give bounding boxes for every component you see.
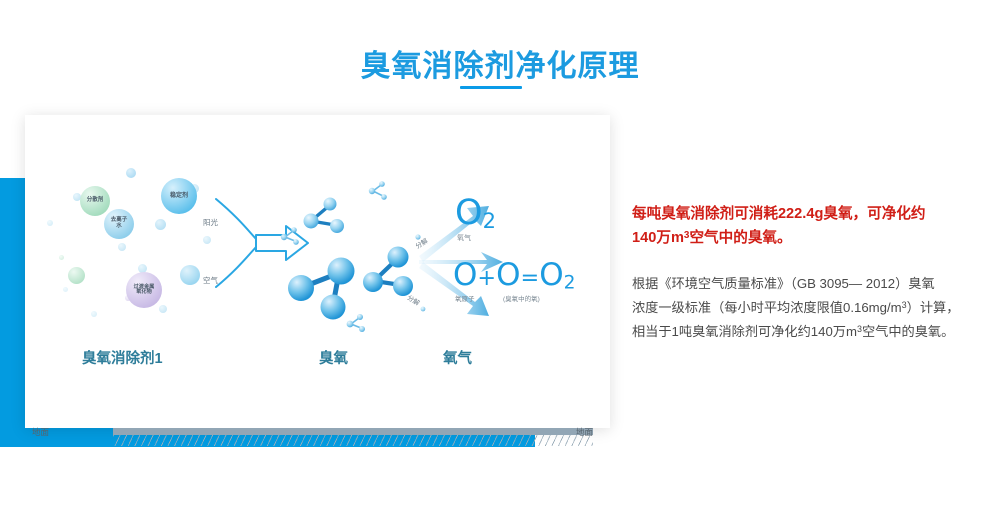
- formula-atom-equation: O+O=O2: [453, 257, 575, 293]
- label-oxygen-name: 氧气: [457, 233, 471, 243]
- decor-bubble: [155, 219, 166, 230]
- formula-atom-left: O: [453, 257, 477, 293]
- bubble-stabilizer-label: 稳定剂: [170, 193, 188, 199]
- body-line-3: 相当于1吨臭氧消除剂可净化约140万m3空气中的臭氧。: [632, 320, 992, 344]
- ground-hatching: [113, 435, 593, 446]
- headline-line-2-pre: 140万m: [632, 230, 684, 246]
- headline-line-2-post: 空气中的臭氧。: [689, 230, 791, 246]
- poster-root: 臭氧消除剂净化原理 分散剂 去离子水 稳定剂 过渡金属氧化: [0, 0, 1000, 509]
- diagram-card: 分散剂 去离子水 稳定剂 过渡金属氧化物 阳光 空气: [25, 115, 610, 428]
- decor-bubble: [47, 220, 53, 226]
- formula-atom-right: O: [539, 257, 563, 293]
- caption-oxygen: 氧气: [443, 347, 472, 368]
- body-line-2: 浓度一级标准（每小时平均浓度限值0.16mg/m3）计算，: [632, 296, 992, 320]
- decor-bubble: [59, 255, 64, 260]
- bubble-deionized-water-label: 去离子水: [110, 218, 128, 230]
- ground-label-left: 地面: [32, 426, 49, 438]
- caption-ozone: 臭氧: [319, 347, 348, 368]
- ground-bar: [113, 428, 593, 435]
- page-title: 臭氧消除剂净化原理: [0, 41, 1000, 85]
- bubble-deionized-water: 去离子水: [104, 209, 134, 239]
- formula-oxygen-symbol: O: [455, 193, 483, 233]
- formula-oxygen-subscript: 2: [483, 209, 496, 233]
- decor-bubble: [91, 311, 97, 317]
- body-line-2-pre: 浓度一级标准（每小时平均浓度限值0.16mg/m: [632, 300, 902, 315]
- decor-bubble: [68, 267, 85, 284]
- body-text: 根据《环境空气质量标准》（GB 3095— 2012）臭氧 浓度一级标准（每小时…: [632, 272, 992, 343]
- bubble-dispersant-label: 分散剂: [87, 198, 104, 204]
- body-line-2-post: ）计算，: [907, 300, 960, 315]
- caption-ozone-remover: 臭氧消除剂1: [82, 347, 163, 368]
- decor-bubble: [126, 168, 136, 178]
- headline-line-1: 每吨臭氧消除剂可消耗222.4g臭氧，可净化约: [632, 203, 984, 227]
- title-underline: [460, 86, 522, 89]
- headline-text: 每吨臭氧消除剂可消耗222.4g臭氧，可净化约 140万m3空气中的臭氧。: [632, 203, 984, 250]
- decor-bubble: [63, 287, 68, 292]
- formula-atom-mid: O: [496, 257, 520, 293]
- bubble-transition-metal-oxide-label: 过渡金属氧化物: [132, 285, 156, 296]
- headline-line-2: 140万m3空气中的臭氧。: [632, 227, 984, 251]
- decor-bubble: [118, 243, 126, 251]
- label-atom-name: 氧原子: [455, 293, 475, 303]
- ground-label-right: 地面: [576, 426, 593, 438]
- formula-atom-equals: =: [521, 265, 540, 291]
- bubble-dispersant: 分散剂: [80, 186, 110, 216]
- bubble-transition-metal-oxide: 过渡金属氧化物: [126, 272, 162, 308]
- label-air: 空气: [203, 275, 218, 286]
- label-sunlight: 阳光: [203, 217, 218, 228]
- formula-atom-subscript: 2: [564, 272, 576, 293]
- bubble-stabilizer: 稳定剂: [161, 178, 197, 214]
- body-line-3-pre: 相当于1吨臭氧消除剂可净化约140万m: [632, 324, 857, 339]
- body-line-3-post: 空气中的臭氧。: [862, 324, 954, 339]
- formula-atom-plus: +: [477, 265, 496, 291]
- label-atom-note: (臭氧中的氧): [503, 293, 540, 303]
- decor-bubble: [159, 305, 167, 313]
- formula-oxygen: O2: [455, 193, 496, 233]
- decor-bubble: [180, 265, 200, 285]
- body-line-1: 根据《环境空气质量标准》（GB 3095— 2012）臭氧: [632, 272, 992, 296]
